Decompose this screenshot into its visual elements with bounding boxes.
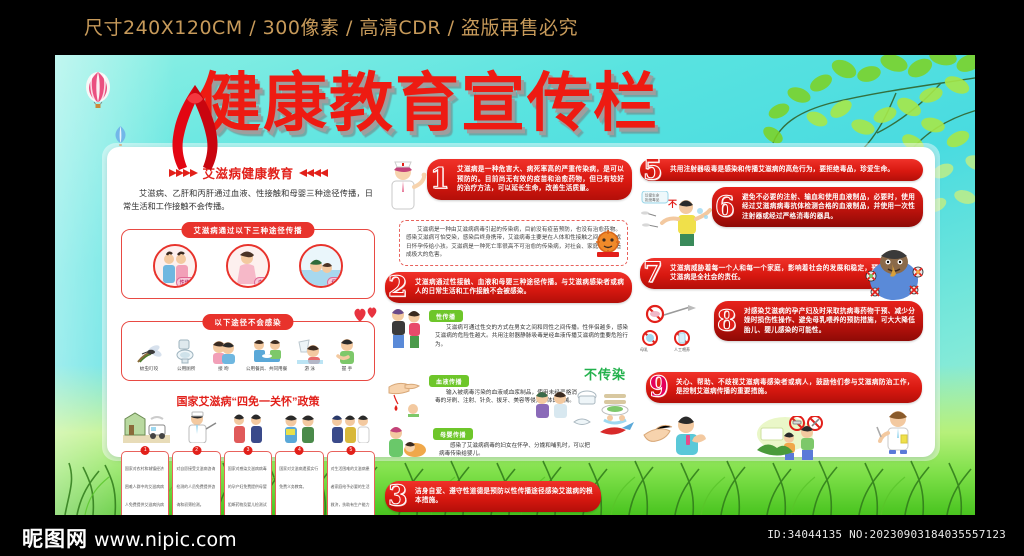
content-panel: 艾滋病健康教育 艾滋病、乙肝和丙肝通过血液、性接触和母婴三种途径传播，日常生活和… (107, 147, 935, 457)
column-left: 艾滋病健康教育 艾滋病、乙肝和丙肝通过血液、性接触和母婴三种途径传播，日常生活和… (113, 155, 381, 451)
middle-banner-2-text: 艾滋病通过性接触、血液和母婴三种途径传播。与艾滋病感染者或病人的日常生活和工作接… (415, 279, 624, 296)
policy-card: 4 国家对艾滋病遗孤实行免费义务教育。 (275, 451, 323, 515)
no-infection-item-label: 接 吻 (205, 366, 241, 372)
no-infection-item: 握 手 (329, 338, 365, 372)
couple-illustration (385, 306, 425, 369)
no-infection-item: 公用厕所 (168, 338, 204, 372)
right-banner-8-text: 对感染艾滋病的孕产妇及时采取抗病毒药物干预、减少分娩时损伤性操作、避免母乳喂养的… (744, 308, 915, 334)
footer-bar: 昵图网www.nipic.com ID:34044135 NO:20230903… (0, 515, 1024, 556)
right-number-7: 7 (643, 259, 663, 287)
right-number-6: 6 (715, 193, 735, 221)
policy-card-number: 1 (141, 446, 150, 455)
no-infection-item: 游 泳 (292, 338, 328, 372)
no-infection-item-label: 蚊虫叮咬 (131, 366, 167, 372)
middle-item-1-detail: 艾滋病是一种由艾滋病病毒引起的传染病，目前没有疫苗预防，也没有治愈药物。感染艾滋… (399, 220, 628, 266)
policy-card-text: 对生活困难的艾滋病患者家庭给予必要的生活救济，扶助有生产能力的艾滋病病毒感染者开… (331, 466, 370, 515)
policy-card-text: 国家对艾滋病遗孤实行免费义务教育。 (279, 466, 318, 489)
column-right: 5 共用注射器吸毒是感染和传播艾滋病的高危行为，要拒绝毒品，珍爱生命。 珍爱生命… (636, 155, 929, 451)
virus-threat-illustration (861, 242, 927, 305)
svg-text:不: 不 (668, 199, 677, 209)
transmission-routes-label: 艾滋病通过以下三种途径传播 (181, 222, 314, 238)
route-item: 母婴 (299, 244, 343, 288)
right-item-8: 母乳 人工喂养 8 对感染艾滋病的孕产妇及时采取抗病毒药物 (640, 301, 923, 358)
right-banner-7: 7 艾滋病威胁着每一个人和每一个家庭，影响着社会的发展和稳定，预防艾滋病是全社会… (640, 258, 893, 289)
no-infection-item-label: 公用餐具、共同用餐 (243, 366, 291, 372)
middle-banner-3-text: 洁身自爱、遵守性道德是预防以性传播途径感染艾滋病的根本措施。 (415, 488, 593, 505)
policy-card: 1 国家对农村和城镇经济困难人群中的艾滋病病人免费提供艾滋病抗病毒治疗药物。 (121, 451, 169, 515)
policy-card-text: 国家对感染艾滋病病毒的孕产妇免费提供母婴阻断药物及婴儿检测试剂。 (228, 466, 267, 515)
middle-number-2: 2 (388, 273, 408, 301)
no-infection-label: 以下途径不会感染 (202, 314, 293, 330)
page-title: 健康教育宣传栏 (197, 72, 659, 136)
right-item-7: 7 艾滋病威胁着每一个人和每一个家庭，影响着社会的发展和稳定，预防艾滋病是全社会… (640, 258, 923, 289)
policy-card-number: 4 (295, 446, 304, 455)
poster-canvas: 健康教育宣传栏 艾滋病健康教育 艾滋病、乙肝和丙肝通过血液、性接触和母婴三种途径… (55, 55, 975, 515)
policy-card: 2 对自愿接受艾滋病咨询检测的人员免费提供咨询和初筛检测。 (172, 451, 220, 515)
kiss-icon (205, 338, 241, 364)
mtct-prevention-illustration: 母乳 人工喂养 (640, 301, 714, 358)
right-number-5: 5 (643, 156, 663, 184)
policy-card-number: 3 (244, 446, 253, 455)
mosquito-icon (131, 338, 167, 364)
policy-card-number: 2 (192, 446, 201, 455)
nurse-illustration (385, 159, 427, 216)
helping-hand-illustration (642, 413, 712, 460)
education-scene-illustration (755, 416, 833, 460)
hand-blood-illustration (385, 371, 425, 422)
no-infection-items: 蚊虫叮咬 公用厕所 (128, 334, 368, 374)
transmission-routes-box: 艾滋病通过以下三种途径传播 性传播 (121, 229, 375, 299)
left-section-title: 艾滋病健康教育 (121, 163, 375, 182)
middle-banner-1-text: 艾滋病是一种危害大、病死率高的严重传染病，是可以预防的。目前尚无有效的疫苗和治愈… (457, 166, 624, 192)
middle-item-2: 2 艾滋病通过性接触、血液和母婴三种途径传播。与艾滋病感染者或病人的日常生活和工… (385, 272, 632, 473)
policy-illustration-kids (275, 411, 322, 443)
route-item-caption: 性传播 (176, 277, 197, 288)
brand-url: www.nipic.com (94, 529, 237, 551)
virus-warning-icon (582, 228, 623, 261)
right-item-9: 9 关心、帮助、不歧视艾滋病毒感染者或病人，鼓励他们参与艾滋病防治工作，是控制艾… (640, 372, 923, 460)
middle-banner-2: 2 艾滋病通过性接触、血液和母婴三种途径传播。与艾滋病感染者或病人的日常生活和工… (385, 272, 632, 303)
policy-illustration-doctor (174, 411, 221, 443)
no-infection-item: 接 吻 (205, 338, 241, 372)
right-banner-9-text: 关心、帮助、不歧视艾滋病毒感染者或病人，鼓励他们参与艾滋病防治工作，是控制艾滋病… (676, 379, 914, 396)
route-item-caption: 母婴 (327, 277, 343, 288)
policy-illustration-village (123, 411, 170, 443)
site-brand: 昵图网www.nipic.com (22, 523, 237, 553)
spec-text: 尺寸240X120CM / 300像素 / 高清CDR / 盗版再售必究 (84, 13, 578, 40)
sublabel-sexual: 性传播 (429, 310, 463, 322)
no-infection-item-label: 握 手 (329, 366, 365, 372)
refuse-drugs-illustration: 珍爱生命 拒绝毒品 不 (640, 187, 712, 252)
left-intro-text: 艾滋病、乙肝和丙肝通过血液、性接触和母婴三种途径传播，日常生活和工作接触不会传播… (121, 187, 375, 213)
policy-illustration-counseling (225, 411, 272, 443)
no-infection-item: 公用餐具、共同用餐 (243, 338, 291, 372)
policy-card: 3 国家对感染艾滋病病毒的孕产妇免费提供母婴阻断药物及婴儿检测试剂。 (224, 451, 272, 515)
svg-text:拒绝毒品: 拒绝毒品 (645, 197, 660, 202)
policy-card-text: 对自愿接受艾滋病咨询检测的人员免费提供咨询和初筛检测。 (176, 466, 215, 507)
sublabel-blood: 血液传播 (429, 375, 469, 387)
right-item-5: 5 共用注射器吸毒是感染和传播艾滋病的高危行为，要拒绝毒品，珍爱生命。 (640, 159, 923, 181)
handshake-icon (329, 338, 365, 364)
swimming-icon (292, 338, 328, 364)
mother-baby-illustration (385, 424, 429, 473)
middle-item-3: 3 洁身自爱、遵守性道德是预防以性传播途径感染艾滋病的根本措施。 (385, 481, 632, 512)
policy-card-text: 国家对农村和城镇经济困难人群中的艾滋病病人免费提供艾滋病抗病毒治疗药物。 (125, 466, 164, 515)
svg-text:珍爱生命: 珍爱生命 (645, 192, 660, 197)
no-infection-item-label: 公用厕所 (168, 366, 204, 372)
right-banner-9: 9 关心、帮助、不歧视艾滋病毒感染者或病人，鼓励他们参与艾滋病防治工作，是控制艾… (646, 372, 922, 403)
sublabel-sexual-text: 艾滋病可通过性交的方式在男女之间和同性之间传播。性伴侣越多，感染艾滋病的危险性越… (425, 324, 632, 349)
shared-meal-icon (243, 338, 291, 364)
route-item: 血液 (226, 244, 270, 288)
middle-number-3: 3 (388, 482, 408, 510)
top-spec-bar: 尺寸240X120CM / 300像素 / 高清CDR / 盗版再售必究 (0, 0, 1024, 55)
right-number-8: 8 (717, 307, 737, 335)
toilet-icon (168, 338, 204, 364)
svg-text:母乳: 母乳 (640, 346, 648, 352)
right-banner-7-text: 艾滋病威胁着每一个人和每一个家庭，影响着社会的发展和稳定，预防艾滋病是全社会的责… (670, 265, 885, 282)
right-number-9: 9 (649, 373, 669, 401)
policy-cards: 1 国家对农村和城镇经济困难人群中的艾滋病病人免费提供艾滋病抗病毒治疗药物。 2… (121, 451, 375, 515)
route-item-caption: 血液 (254, 277, 270, 288)
middle-number-1: 1 (430, 165, 450, 193)
policy-illustrations (121, 411, 375, 443)
transmission-routes-items: 性传播 血液 (128, 242, 368, 292)
hot-air-balloon-icon (83, 71, 113, 113)
brand-name: 昵图网 (22, 527, 88, 551)
policy-card: 5 对生活困难的艾滋病患者家庭给予必要的生活救济，扶助有生产能力的艾滋病病毒感染… (327, 451, 375, 515)
policy-illustration-workers (326, 411, 373, 443)
asset-id-text: ID:34044135 NO:20230903184035557123 (767, 528, 1006, 541)
sublabel-mtct: 母婴传播 (433, 428, 473, 440)
right-banner-5: 5 共用注射器吸毒是感染和传播艾滋病的高危行为，要拒绝毒品，珍爱生命。 (640, 159, 923, 181)
middle-item-1: 1 艾滋病是一种危害大、病死率高的严重传染病，是可以预防的。目前尚无有效的疫苗和… (385, 159, 632, 266)
right-banner-6: 6 避免不必要的注射、输血和使用血液制品，必要时，使用经过艾滋病病毒抗体检测合格… (712, 187, 923, 228)
right-banner-8: 8 对感染艾滋病的孕产妇及时采取抗病毒药物干预、减少分娩时损伤性操作、避免母乳喂… (714, 301, 923, 342)
screenshot-root: 尺寸240X120CM / 300像素 / 高清CDR / 盗版再售必究 (0, 0, 1024, 556)
no-infection-item: 蚊虫叮咬 (131, 338, 167, 372)
no-spread-group (530, 386, 638, 453)
svg-text:人工喂养: 人工喂养 (674, 346, 690, 352)
right-banner-6-text: 避免不必要的注射、输血和使用血液制品，必要时，使用经过艾滋病病毒抗体检测合格的血… (742, 194, 915, 220)
right-banner-5-text: 共用注射器吸毒是感染和传播艾滋病的高危行为，要拒绝毒品，珍爱生命。 (670, 166, 894, 173)
no-spread-text: 不传染 (584, 364, 626, 383)
policy-card-number: 5 (346, 446, 355, 455)
column-middle: 1 艾滋病是一种危害大、病死率高的严重传染病，是可以预防的。目前尚无有效的疫苗和… (381, 155, 636, 451)
no-infection-box: 以下途径不会感染 (121, 321, 375, 381)
policy-title: 国家艾滋病“四免一关怀”政策 (121, 393, 375, 409)
middle-banner-3: 3 洁身自爱、遵守性道德是预防以性传播途径感染艾滋病的根本措施。 (385, 481, 601, 512)
aids-red-ribbon-icon (165, 75, 225, 173)
right-bottom-illustrations (640, 409, 923, 460)
arrows-left-icon (299, 169, 327, 177)
middle-banner-1: 1 艾滋病是一种危害大、病死率高的严重传染病，是可以预防的。目前尚无有效的疫苗和… (427, 159, 632, 200)
no-infection-item-label: 游 泳 (292, 366, 328, 372)
lab-doctor-illustration (875, 409, 921, 460)
route-item: 性传播 (153, 244, 197, 288)
